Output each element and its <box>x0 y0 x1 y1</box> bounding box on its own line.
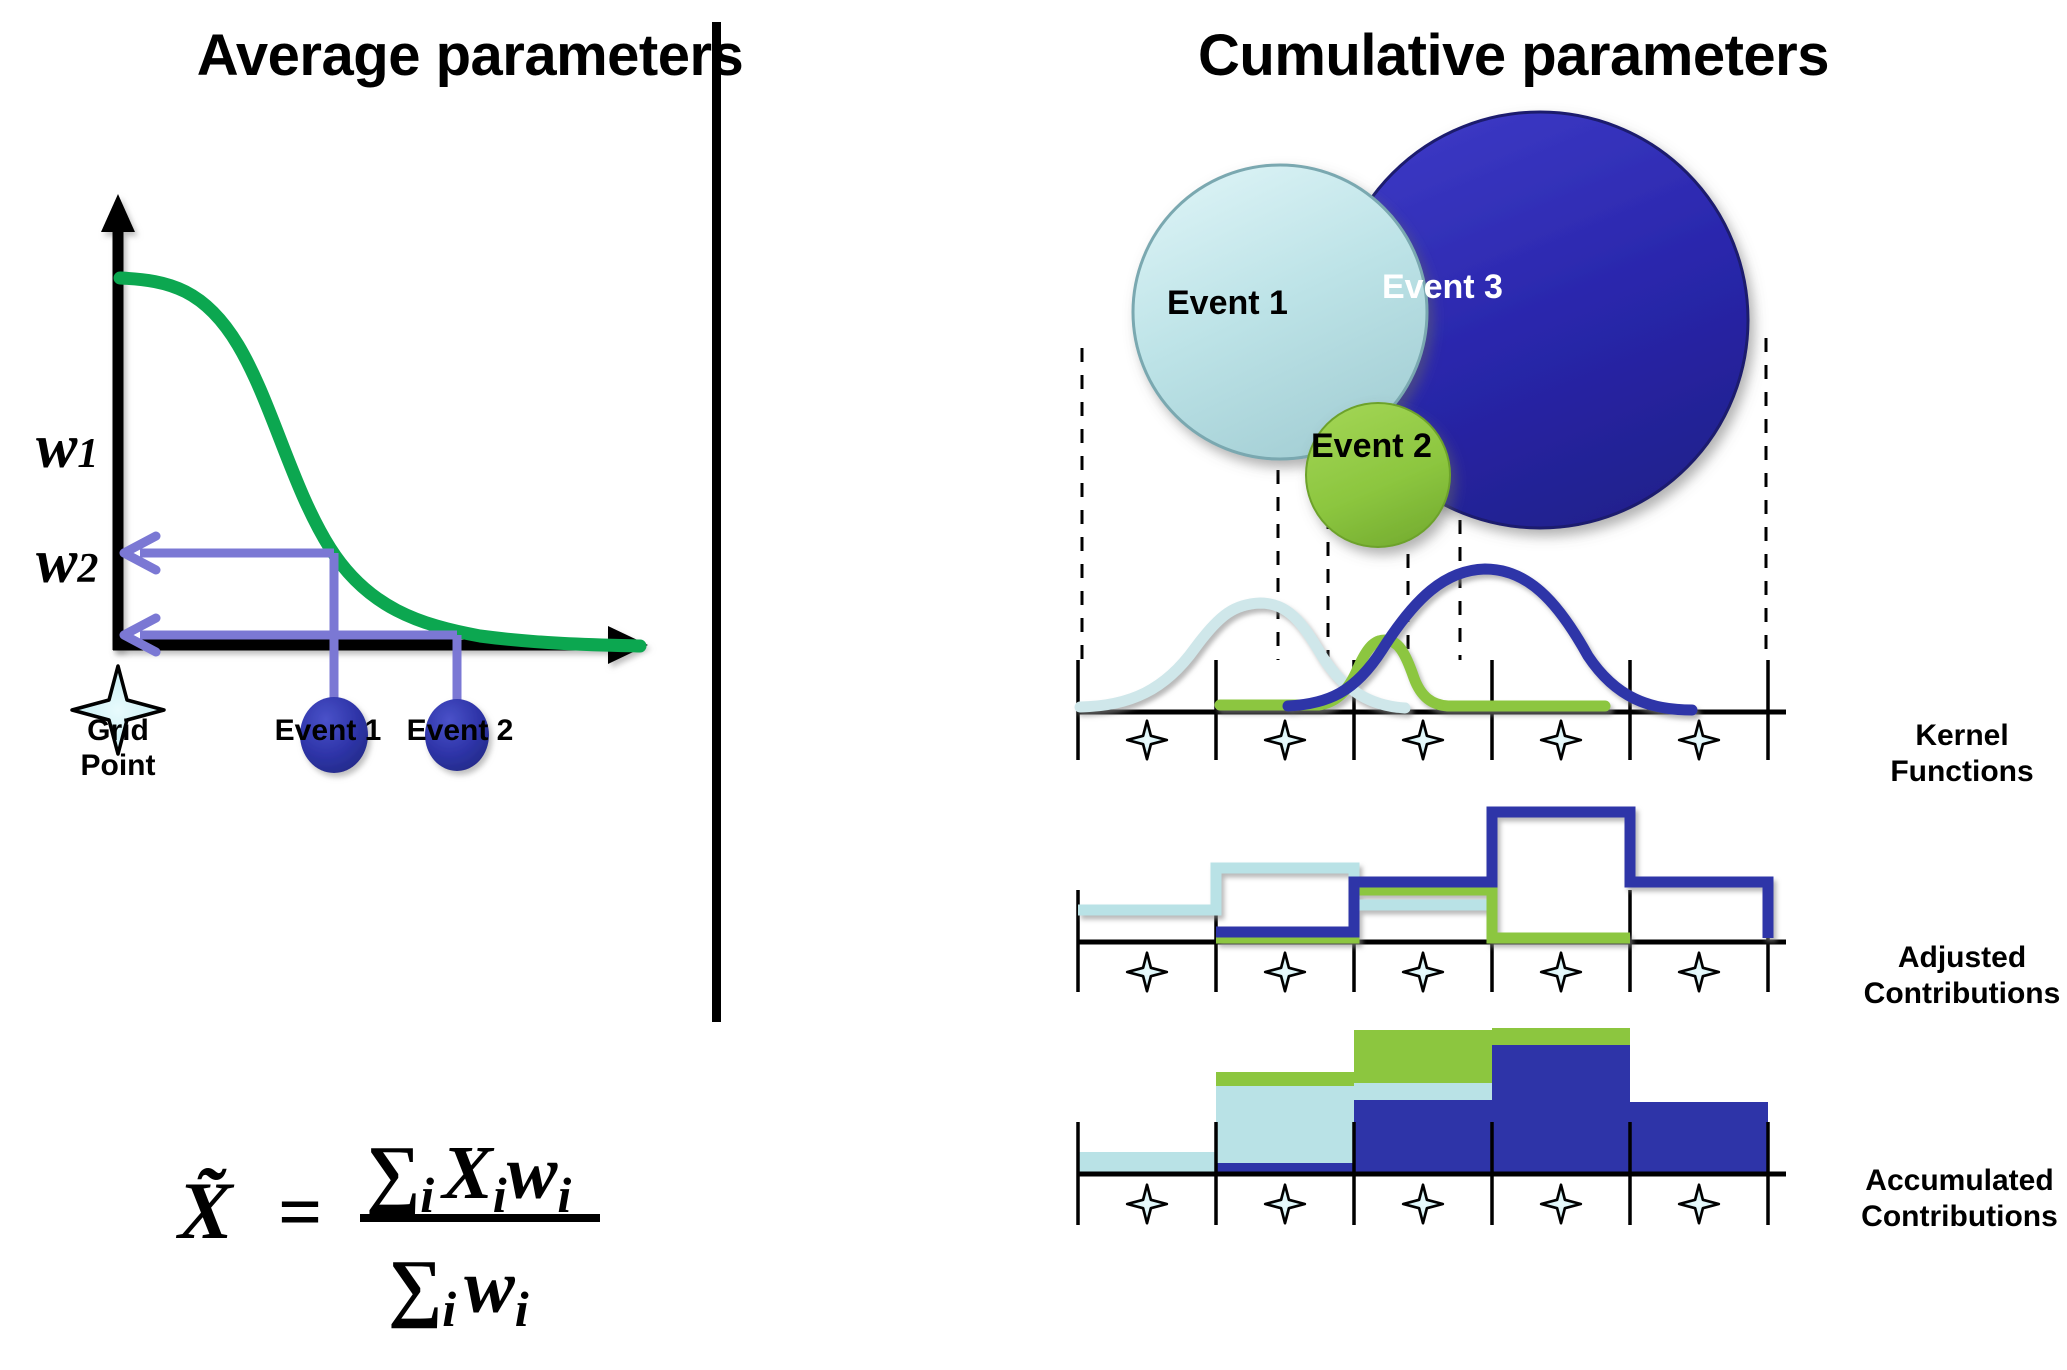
adjusted-label-line1: Adjusted <box>1862 940 2062 976</box>
grid-caption-line1: Grid <box>58 713 178 748</box>
diagram-root: Average parameters Cumulative parameters <box>0 0 2067 1366</box>
kernel-label-line1: Kernel <box>1862 718 2062 754</box>
event1-circle-label: Event 1 <box>1167 284 1288 323</box>
weight-decay-curve <box>120 278 640 646</box>
left-panel-title: Average parameters <box>0 22 940 89</box>
formula-lhs: X̃ <box>175 1165 235 1256</box>
w1-axis-label: w1 <box>36 412 98 483</box>
adjusted-label-line2: Contributions <box>1862 976 2062 1012</box>
accumulated-contributions-label: Accumulated Contributions <box>1852 1163 2067 1235</box>
kernel-functions-label: Kernel Functions <box>1862 718 2062 790</box>
y-axis <box>101 194 135 650</box>
weighted-average-formula: X̃ = ∑iXiwi ∑iwi <box>170 1090 700 1340</box>
accumulated-bars <box>1078 1028 1768 1174</box>
accumulated-label-line2: Contributions <box>1852 1199 2067 1235</box>
event3-circle-label: Event 3 <box>1382 268 1503 307</box>
event2-caption: Event 2 <box>390 713 530 748</box>
formula-equals: = <box>278 1168 322 1255</box>
kernel-curve-event1 <box>1080 603 1405 708</box>
adjusted-contributions-label: Adjusted Contributions <box>1862 940 2062 1012</box>
event2-circle <box>1306 403 1450 547</box>
grid-caption-line2: Point <box>58 748 178 783</box>
accumulated-label-line1: Accumulated <box>1852 1163 2067 1199</box>
w2-arrow <box>124 618 457 710</box>
formula-numerator: ∑iXiwi <box>366 1131 571 1223</box>
event2-circle-label: Event 2 <box>1311 427 1432 466</box>
average-parameters-chart <box>0 170 720 790</box>
grid-point-caption: Grid Point <box>58 713 178 784</box>
event1-caption: Event 1 <box>258 713 398 748</box>
w2-axis-label: w2 <box>36 527 98 598</box>
kernel-label-line2: Functions <box>1862 754 2062 790</box>
right-panel-title: Cumulative parameters <box>960 22 2067 89</box>
formula-denominator: ∑iwi <box>388 1245 529 1337</box>
